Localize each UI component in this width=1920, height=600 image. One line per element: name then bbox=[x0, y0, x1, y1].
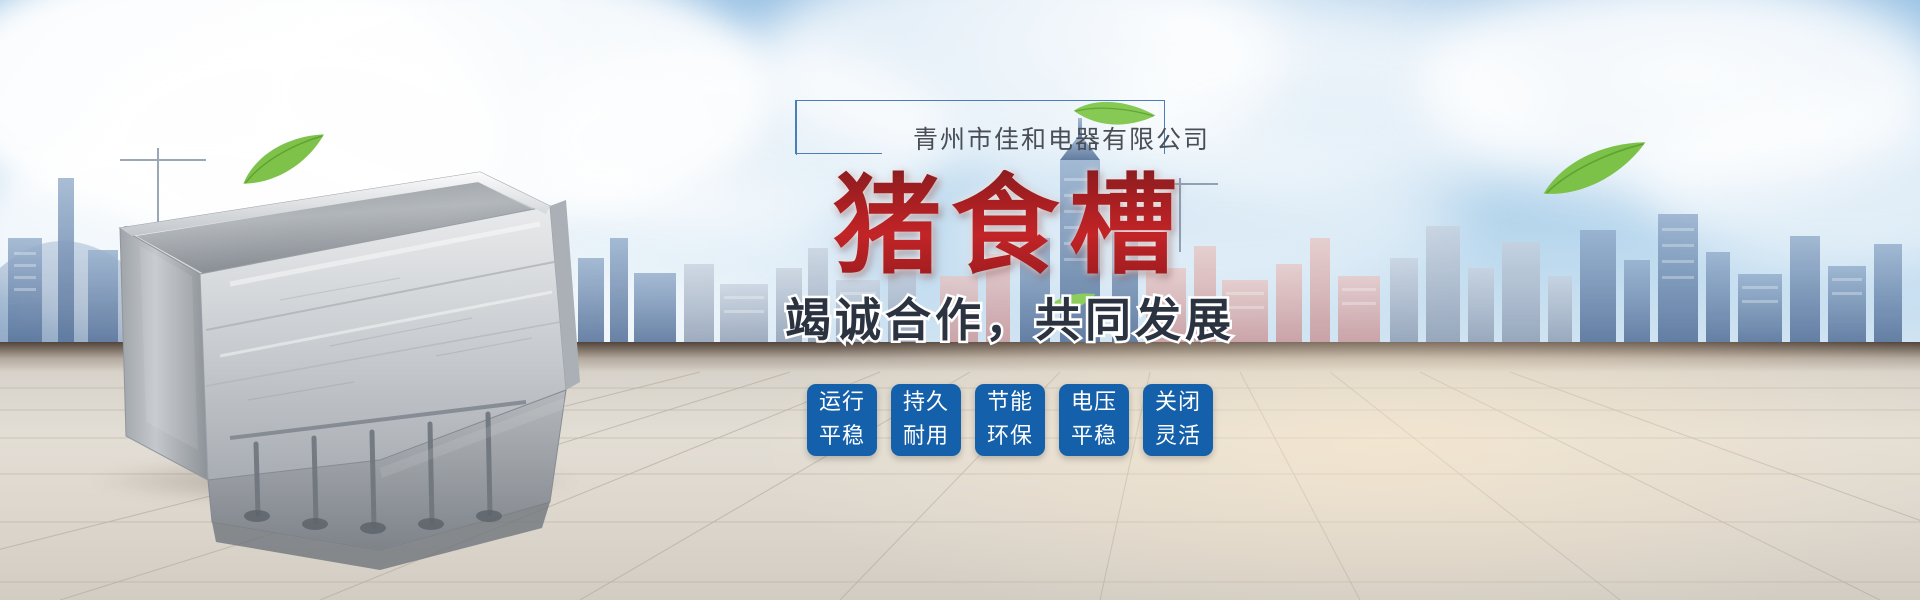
feature-badge[interactable]: 运行 平稳 bbox=[807, 384, 877, 456]
badge-line-2: 环保 bbox=[987, 420, 1033, 454]
banner-copy-block: 青州市佳和电器有限公司 猪食槽 竭诚合作，共同发展 运行 平稳 持久 耐用 节能… bbox=[700, 100, 1320, 456]
badge-line-1: 节能 bbox=[987, 386, 1033, 420]
feature-badge[interactable]: 节能 环保 bbox=[975, 384, 1045, 456]
product-title: 猪食槽 bbox=[700, 170, 1320, 282]
promo-banner: 青州市佳和电器有限公司 猪食槽 竭诚合作，共同发展 运行 平稳 持久 耐用 节能… bbox=[0, 0, 1920, 600]
feature-badge-list: 运行 平稳 持久 耐用 节能 环保 电压 平稳 关闭 灵活 bbox=[700, 384, 1320, 456]
product-image-pig-feeding-trough bbox=[80, 150, 640, 570]
feature-badge[interactable]: 电压 平稳 bbox=[1059, 384, 1129, 456]
badge-line-2: 耐用 bbox=[903, 420, 949, 454]
badge-line-1: 持久 bbox=[903, 386, 949, 420]
slogan-text: 竭诚合作，共同发展 bbox=[700, 284, 1320, 350]
badge-line-1: 关闭 bbox=[1155, 386, 1201, 420]
badge-line-2: 灵活 bbox=[1155, 420, 1201, 454]
feature-badge[interactable]: 持久 耐用 bbox=[891, 384, 961, 456]
feature-badge[interactable]: 关闭 灵活 bbox=[1143, 384, 1213, 456]
badge-line-1: 运行 bbox=[819, 386, 865, 420]
badge-line-1: 电压 bbox=[1071, 386, 1117, 420]
badge-line-2: 平稳 bbox=[1071, 420, 1117, 454]
company-name-frame: 青州市佳和电器有限公司 bbox=[795, 100, 1225, 162]
company-name: 青州市佳和电器有限公司 bbox=[913, 120, 1210, 156]
badge-line-2: 平稳 bbox=[819, 420, 865, 454]
